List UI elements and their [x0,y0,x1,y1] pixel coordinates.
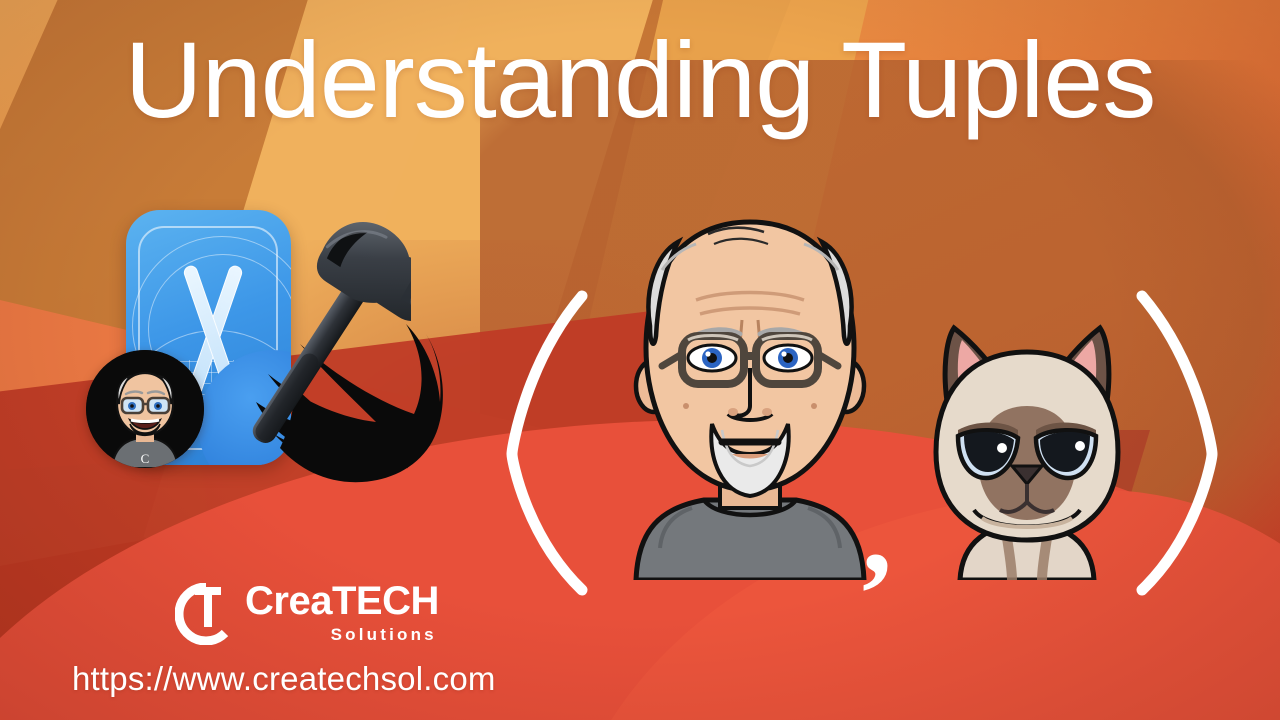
brand-name-part2: TECH [332,579,439,623]
tuple-element-cat-avatar [912,312,1142,580]
brand-tagline: Solutions [245,625,439,645]
tool-cluster: C [108,190,398,520]
open-paren-glyph [496,288,596,598]
brand-logo-text: CreaTECH Solutions [245,581,439,645]
video-title-slide: Understanding Tuples [0,0,1280,720]
tuple-element-man-avatar [600,208,900,580]
website-url: https://www.createchsol.com [72,660,496,698]
brand-name-part1: Crea [245,579,332,623]
slide-title: Understanding Tuples [0,26,1280,134]
createch-monogram-icon [175,583,237,645]
comma-glyph: , [862,472,892,592]
brand-name: CreaTECH [245,581,439,621]
close-paren-glyph [1128,288,1228,598]
hammer-icon [236,190,411,490]
presenter-avatar: C [86,350,204,468]
brand-logo: CreaTECH Solutions [175,583,505,651]
svg-text:C: C [141,451,150,466]
